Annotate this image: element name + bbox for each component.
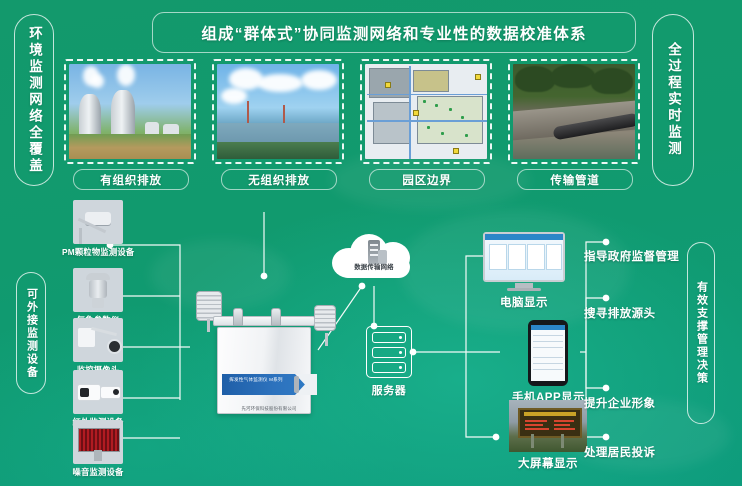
display-item-1[interactable]: 手机APP显示	[512, 320, 584, 405]
side-label-top-left: 环境监测网络全覆盖	[26, 26, 42, 175]
display-item-0[interactable]: 电脑显示	[478, 232, 570, 310]
side-label-top-right: 全过程实时监测	[665, 42, 681, 158]
data-transmission-cloud[interactable]: 数据传输网络	[332, 230, 416, 286]
station-brand-text: 挥发性气体监测仪 M系列	[228, 377, 284, 384]
station-handle	[294, 376, 299, 393]
server-label: 服务器	[365, 382, 413, 398]
noise-monitor-icon	[73, 420, 123, 464]
station-top-panel	[213, 316, 315, 326]
scene-card-0[interactable]	[64, 59, 196, 164]
device-item-4[interactable]: 噪音监测设备	[62, 420, 134, 478]
display-item-2[interactable]: 大屏幕显示	[500, 400, 596, 471]
label-capsule-decision-support: 有效支撑管理决策	[687, 242, 715, 424]
station-sensor-right	[314, 305, 336, 331]
surveillance-camera-icon	[73, 318, 123, 362]
device-label-0: PM颗粒物监测设备	[62, 246, 134, 258]
cloud-label: 数据传输网络	[332, 262, 416, 271]
air-monitoring-station[interactable]: 挥发性气体监测仪 M系列 先河环保科技股份有限公司	[213, 316, 315, 414]
diagram-canvas: 环境监测网络全覆盖 全过程实时监测 可外接监测设备 有效支撑管理决策 组成“群体…	[0, 0, 742, 486]
scene-card-1[interactable]	[212, 59, 344, 164]
display-label-2: 大屏幕显示	[500, 455, 596, 471]
label-capsule-coverage: 环境监测网络全覆盖	[14, 14, 54, 186]
scene-caption-2: 园区边界	[369, 169, 485, 190]
device-item-0[interactable]: PM颗粒物监测设备	[62, 200, 134, 258]
mobile-phone-icon	[528, 320, 568, 386]
scene-card-2[interactable]	[360, 59, 492, 164]
outcome-item-2: 提升企业形象	[584, 395, 655, 411]
server-rack-icon	[366, 326, 412, 378]
station-probe-left	[233, 308, 243, 326]
server-node[interactable]: 服务器	[365, 326, 413, 398]
outcome-item-0: 指导政府监督管理	[584, 248, 679, 264]
pm-sensor-icon	[73, 200, 123, 244]
scene-caption-1: 无组织排放	[221, 169, 337, 190]
page-title: 组成“群体式”协同监测网络和专业性的数据校准体系	[201, 22, 586, 44]
infrared-monitor-icon	[73, 370, 123, 414]
led-billboard-icon	[509, 400, 587, 452]
side-label-bottom-left: 可外接监测设备	[25, 288, 38, 379]
label-capsule-external-devices: 可外接监测设备	[16, 272, 46, 394]
device-item-2[interactable]: 监控摄像头	[62, 318, 134, 376]
transfer-pipeline-photo	[513, 64, 635, 159]
desktop-monitor-icon	[483, 232, 565, 282]
outcome-item-3: 处理居民投诉	[584, 444, 655, 460]
scene-gallery: 有组织排放 无组织排放	[64, 59, 644, 189]
station-brand-band: 挥发性气体监测仪 M系列	[222, 374, 316, 395]
device-label-4: 噪音监测设备	[62, 466, 134, 478]
outcome-item-1: 搜寻排放源头	[584, 305, 655, 321]
scene-caption-0: 有组织排放	[73, 169, 189, 190]
industrial-smoke-photo	[217, 64, 339, 159]
station-probe-right	[271, 308, 281, 326]
scene-card-3[interactable]	[508, 59, 640, 164]
display-label-0: 电脑显示	[478, 294, 570, 310]
station-cabinet: 挥发性气体监测仪 M系列 先河环保科技股份有限公司	[217, 327, 311, 414]
park-boundary-map	[365, 64, 487, 159]
title-panel: 组成“群体式”协同监测网络和专业性的数据校准体系	[152, 12, 636, 53]
cooling-towers-photo	[69, 64, 191, 159]
weather-instrument-icon	[73, 268, 123, 312]
label-capsule-realtime: 全过程实时监测	[652, 14, 694, 186]
scene-caption-3: 传输管道	[517, 169, 633, 190]
station-footer-text: 先河环保科技股份有限公司	[222, 406, 316, 412]
side-label-bottom-right: 有效支撑管理决策	[695, 281, 708, 385]
